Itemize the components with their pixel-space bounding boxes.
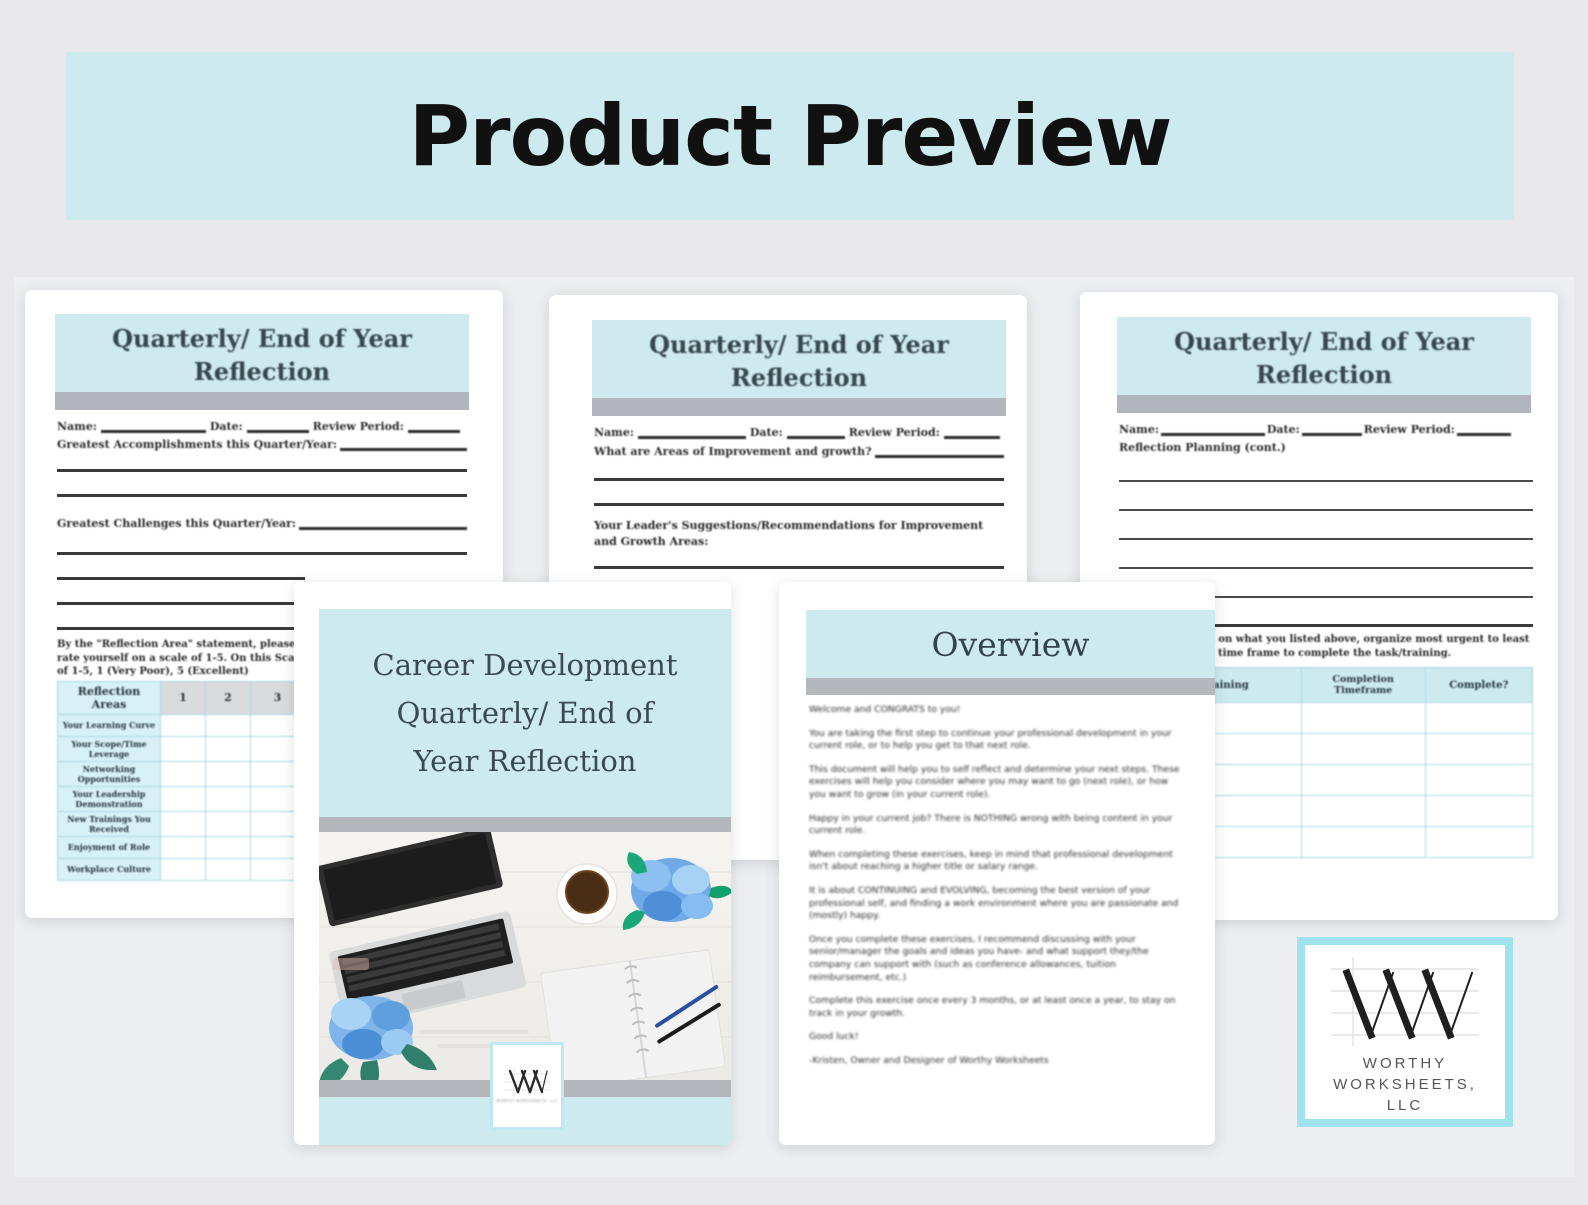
- logo-wordmark: WORTHY WORKSHEETS, LLC: [1333, 1053, 1477, 1116]
- page3-write-line[interactable]: [1119, 567, 1533, 569]
- cover-grey-divider-top: [319, 817, 731, 832]
- page1-cell[interactable]: [161, 714, 206, 736]
- page1-cell[interactable]: [161, 786, 206, 811]
- page1-rating-table-wrap: Reflection Areas 1 2 3 Your Learning Cur…: [57, 681, 305, 881]
- page1-cell[interactable]: [161, 836, 206, 858]
- page3-write-line[interactable]: [1119, 538, 1533, 540]
- page3-header-band: Quarterly/ End of Year Reflection: [1117, 317, 1531, 395]
- page1-cell[interactable]: [206, 736, 251, 761]
- page3-name-input[interactable]: [1161, 433, 1265, 436]
- page1-instructions: By the "Reflection Area" statement, plea…: [57, 638, 305, 679]
- page1-table-row-header: Reflection Areas: [58, 681, 161, 714]
- overview-signature: -Kristen, Owner and Designer of Worthy W…: [809, 1055, 1181, 1068]
- page1-write-line[interactable]: [57, 552, 467, 555]
- table-row[interactable]: Enjoyment of Role: [58, 836, 305, 858]
- page1-write-line[interactable]: [57, 627, 305, 630]
- page3-cell[interactable]: [1301, 827, 1425, 858]
- page3-name-label: Name:: [1119, 423, 1159, 436]
- page3-cell[interactable]: [1301, 765, 1425, 796]
- page1-prompt2-input[interactable]: [299, 527, 467, 530]
- page3-date-input[interactable]: [1302, 433, 1362, 436]
- page3-cell[interactable]: [1301, 703, 1425, 734]
- logo-monogram-icon: [1325, 951, 1485, 1051]
- page3-cell[interactable]: [1301, 734, 1425, 765]
- table-header-row: Reflection Areas 1 2 3: [58, 681, 305, 714]
- overview-grey-divider: [806, 678, 1215, 695]
- page1-prompt1-label: Greatest Accomplishments this Quarter/Ye…: [57, 438, 337, 451]
- preview-page-overview[interactable]: Overview Welcome and CONGRATS to you! Yo…: [779, 582, 1215, 1145]
- page3-grey-divider: [1117, 395, 1531, 413]
- page1-period-label: Review Period:: [313, 420, 404, 433]
- page2-body: Name: Date: Review Period: What are Area…: [594, 426, 1004, 569]
- table-row[interactable]: Your Learning Curve: [58, 714, 305, 736]
- page2-period-input[interactable]: [944, 436, 1000, 439]
- page2-period-label: Review Period:: [849, 426, 940, 439]
- page2-write-line[interactable]: [594, 478, 1004, 481]
- cover-title-line1: Career Development: [319, 641, 731, 689]
- page1-cell[interactable]: [206, 714, 251, 736]
- logo-inner: WORTHY WORKSHEETS, LLC: [1305, 945, 1505, 1119]
- overview-header-band: Overview: [806, 610, 1215, 678]
- preview-page-cover[interactable]: Career Development Quarterly/ End of Yea…: [294, 582, 731, 1145]
- table-row[interactable]: Networking Opportunities: [58, 761, 305, 786]
- page2-prompt2: Your Leader's Suggestions/Recommendation…: [594, 518, 1004, 550]
- page1-row-label: New Trainings You Received: [58, 811, 161, 836]
- table-row[interactable]: Your Leadership Demonstration: [58, 786, 305, 811]
- page1-header-line2: Reflection: [55, 355, 469, 388]
- page1-date-input[interactable]: [247, 430, 309, 433]
- page3-period-label: Review Period:: [1364, 423, 1455, 436]
- logo-line-3: LLC: [1333, 1095, 1477, 1116]
- logo-line-1: WORTHY: [1333, 1053, 1477, 1074]
- page3-header-line2: Reflection: [1117, 358, 1531, 391]
- overview-title: Overview: [932, 625, 1090, 664]
- page1-header-line1: Quarterly/ End of Year: [55, 322, 469, 355]
- page1-row-label: Networking Opportunities: [58, 761, 161, 786]
- page3-period-input[interactable]: [1457, 433, 1511, 436]
- page2-date-input[interactable]: [787, 436, 845, 439]
- page1-period-input[interactable]: [408, 430, 460, 433]
- page1-row-label: Enjoyment of Role: [58, 836, 161, 858]
- page3-write-line[interactable]: [1119, 480, 1533, 482]
- page1-cell[interactable]: [206, 858, 251, 880]
- page1-date-label: Date:: [210, 420, 243, 433]
- page3-cell[interactable]: [1425, 703, 1532, 734]
- page3-prompt1-label: Reflection Planning (cont.): [1119, 441, 1533, 454]
- page1-name-label: Name:: [57, 420, 97, 433]
- page1-write-line[interactable]: [57, 602, 305, 605]
- page1-cell[interactable]: [206, 811, 251, 836]
- page1-cell[interactable]: [206, 761, 251, 786]
- page3-cell[interactable]: [1425, 765, 1532, 796]
- overview-paragraph: Once you complete these exercises, I rec…: [809, 934, 1181, 984]
- page2-header-line1: Quarterly/ End of Year: [592, 328, 1006, 361]
- page1-row-label: Your Scope/Time Leverage: [58, 736, 161, 761]
- logo-line-2: WORKSHEETS,: [1333, 1074, 1477, 1095]
- page1-name-input[interactable]: [101, 430, 206, 433]
- worthy-monogram-icon: [504, 1068, 550, 1096]
- page3-write-line[interactable]: [1119, 509, 1533, 511]
- page1-row-label: Your Learning Curve: [58, 714, 161, 736]
- overview-paragraph: When completing these exercises, keep in…: [809, 849, 1181, 874]
- cover-title-line2: Quarterly/ End of: [319, 689, 731, 737]
- page1-grey-divider: [55, 392, 469, 410]
- cover-logo-badge: WORTHY WORKSHEETS, LLC: [490, 1042, 564, 1130]
- cover-title-band: Career Development Quarterly/ End of Yea…: [319, 609, 731, 817]
- page3-date-label: Date:: [1267, 423, 1300, 436]
- page1-prompt2-label: Greatest Challenges this Quarter/Year:: [57, 517, 296, 530]
- table-row[interactable]: Your Scope/Time Leverage: [58, 736, 305, 761]
- page1-cell[interactable]: [161, 761, 206, 786]
- overview-paragraph: Welcome and CONGRATS to you!: [809, 704, 1181, 717]
- page3-col-complete: Complete?: [1425, 668, 1532, 703]
- page2-write-line[interactable]: [594, 503, 1004, 506]
- page2-write-line[interactable]: [594, 566, 1004, 569]
- page3-cell[interactable]: [1425, 796, 1532, 827]
- cover-logo-text: WORTHY WORKSHEETS, LLC: [496, 1099, 557, 1104]
- table-row[interactable]: Workplace Culture: [58, 858, 305, 880]
- page1-table-col-2: 2: [206, 681, 251, 714]
- overview-paragraph: This document will help you to self refl…: [809, 764, 1181, 802]
- page2-name-input[interactable]: [638, 436, 746, 439]
- cover-title-line3: Year Reflection: [319, 737, 731, 785]
- page2-name-label: Name:: [594, 426, 634, 439]
- page1-cell[interactable]: [161, 811, 206, 836]
- page2-date-label: Date:: [750, 426, 783, 439]
- w-monogram-svg: [1325, 951, 1485, 1051]
- overview-paragraph: It is about CONTINUING and EVOLVING, bec…: [809, 885, 1181, 923]
- page2-prompt2-line2: and Growth Areas:: [594, 535, 708, 548]
- page1-write-line[interactable]: [57, 577, 305, 580]
- page1-cell[interactable]: [161, 858, 206, 880]
- page3-cell[interactable]: [1425, 734, 1532, 765]
- overview-body: Welcome and CONGRATS to you! You are tak…: [809, 704, 1181, 1078]
- page1-table-col-1: 1: [161, 681, 206, 714]
- page1-header-band: Quarterly/ End of Year Reflection: [55, 314, 469, 392]
- page1-write-line[interactable]: [57, 469, 467, 472]
- overview-paragraph: Happy in your current job? There is NOTH…: [809, 813, 1181, 838]
- page1-rating-table[interactable]: Reflection Areas 1 2 3 Your Learning Cur…: [57, 681, 305, 881]
- page2-prompt1-label: What are Areas of Improvement and growth…: [594, 445, 872, 458]
- page2-grey-divider: [592, 398, 1006, 416]
- cover-title: Career Development Quarterly/ End of Yea…: [319, 641, 731, 785]
- table-row[interactable]: New Trainings You Received: [58, 811, 305, 836]
- page3-cell[interactable]: [1425, 827, 1532, 858]
- page1-row-label: Your Leadership Demonstration: [58, 786, 161, 811]
- page2-header-band: Quarterly/ End of Year Reflection: [592, 320, 1006, 398]
- page-title: Product Preview: [409, 94, 1172, 178]
- page2-prompt2-line1: Your Leader's Suggestions/Recommendation…: [594, 519, 983, 532]
- page2-prompt1-input[interactable]: [875, 455, 1004, 458]
- page3-col-timeframe: Completion Timeframe: [1301, 668, 1425, 703]
- product-preview-banner: Product Preview: [66, 52, 1514, 220]
- page1-cell[interactable]: [206, 836, 251, 858]
- page1-cell[interactable]: [161, 736, 206, 761]
- overview-paragraph: Good luck!: [809, 1031, 1181, 1044]
- page1-row-label: Workplace Culture: [58, 858, 161, 880]
- page3-cell[interactable]: [1301, 796, 1425, 827]
- page1-cell[interactable]: [206, 786, 251, 811]
- overview-paragraph: You are taking the first step to continu…: [809, 728, 1181, 753]
- page1-prompt1-input[interactable]: [340, 448, 467, 451]
- overview-paragraph: Complete this exercise once every 3 mont…: [809, 995, 1181, 1020]
- page2-header-line2: Reflection: [592, 361, 1006, 394]
- worthy-worksheets-logo: WORTHY WORKSHEETS, LLC: [1297, 937, 1513, 1127]
- page3-header-line1: Quarterly/ End of Year: [1117, 325, 1531, 358]
- page1-write-line[interactable]: [57, 494, 467, 497]
